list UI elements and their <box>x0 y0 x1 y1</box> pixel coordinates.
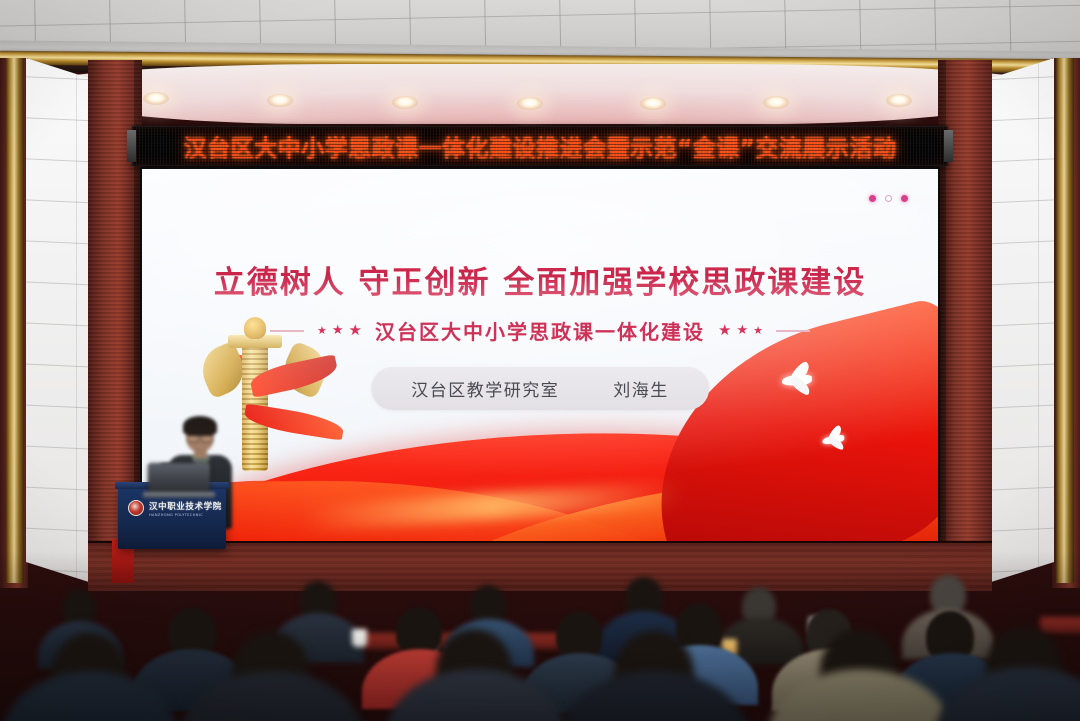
audience-area <box>0 551 1080 721</box>
presenter-info-pill: 汉台区教学研究室 刘海生 <box>371 367 709 410</box>
wall-panel-lines <box>26 58 92 583</box>
paper-cup <box>352 629 367 647</box>
slide-page-dots <box>869 195 908 202</box>
wall-panel-right <box>988 58 1054 583</box>
conference-table <box>1040 617 1080 633</box>
presentation-slide: 立德树人 守正创新 全面加强学校思政课建设 ★ ★ ★ 汉台区大中小学思政课一体… <box>142 169 938 541</box>
gold-wall-strip-left <box>6 58 24 583</box>
gold-wall-strip-right <box>1056 58 1074 583</box>
laptop <box>148 463 210 493</box>
wall-panel-left <box>26 58 92 583</box>
slide-subtitle-row: ★ ★ ★ 汉台区大中小学思政课一体化建设 ★ ★ ★ <box>142 316 938 345</box>
ceiling-downlight <box>763 96 789 109</box>
ceiling-downlight <box>267 94 293 107</box>
star-icon: ★ <box>718 323 731 338</box>
ceiling-downlight <box>143 92 169 105</box>
podium-institution-name: 汉中职业技术学院 <box>149 500 222 512</box>
stars-left: ★ ★ ★ <box>317 323 362 338</box>
led-mount-right <box>944 130 953 162</box>
projection-screen: 立德树人 守正创新 全面加强学校思政课建设 ★ ★ ★ 汉台区大中小学思政课一体… <box>140 167 940 543</box>
podium-institution-pinyin: HANZHONG POLYTECHNIC <box>149 513 203 517</box>
led-mount-left <box>127 130 136 162</box>
led-banner-text: 汉台区大中小学思政课一体化建设推进会暨示范“金课”交流展示活动 <box>184 129 897 163</box>
laptop-base <box>143 492 215 498</box>
ceiling-downlight <box>640 97 666 110</box>
slide-title: 立德树人 守正创新 全面加强学校思政课建设 <box>142 257 938 302</box>
presenter-organization: 汉台区教学研究室 <box>411 376 559 401</box>
stars-right: ★ ★ ★ <box>718 323 763 338</box>
page-dot-filled <box>901 195 908 202</box>
ceiling-downlight <box>886 94 912 107</box>
glasses-icon <box>187 434 213 439</box>
ceiling-downlight <box>517 97 543 110</box>
presenter-name: 刘海生 <box>613 376 669 401</box>
page-dot-hollow <box>885 195 892 202</box>
led-banner: 汉台区大中小学思政课一体化建设推进会暨示范“金课”交流展示活动 <box>132 126 948 166</box>
slide-subtitle: 汉台区大中小学思政课一体化建设 <box>375 316 705 345</box>
wall-panel-lines <box>988 58 1054 583</box>
laptop-screen <box>148 463 210 493</box>
page-dot-filled <box>869 195 876 202</box>
star-icon: ★ <box>753 325 763 336</box>
subtitle-rule-left <box>270 330 304 332</box>
ceiling-downlight <box>392 96 418 109</box>
school-crest-icon <box>128 500 144 516</box>
star-icon: ★ <box>349 323 362 338</box>
star-icon: ★ <box>317 325 327 336</box>
star-icon: ★ <box>736 324 748 337</box>
subtitle-rule-right <box>776 330 810 332</box>
conference-hall-photo: 汉台区大中小学思政课一体化建设推进会暨示范“金课”交流展示活动 <box>0 0 1080 721</box>
speaker-hair <box>183 416 217 436</box>
star-icon: ★ <box>332 324 344 337</box>
